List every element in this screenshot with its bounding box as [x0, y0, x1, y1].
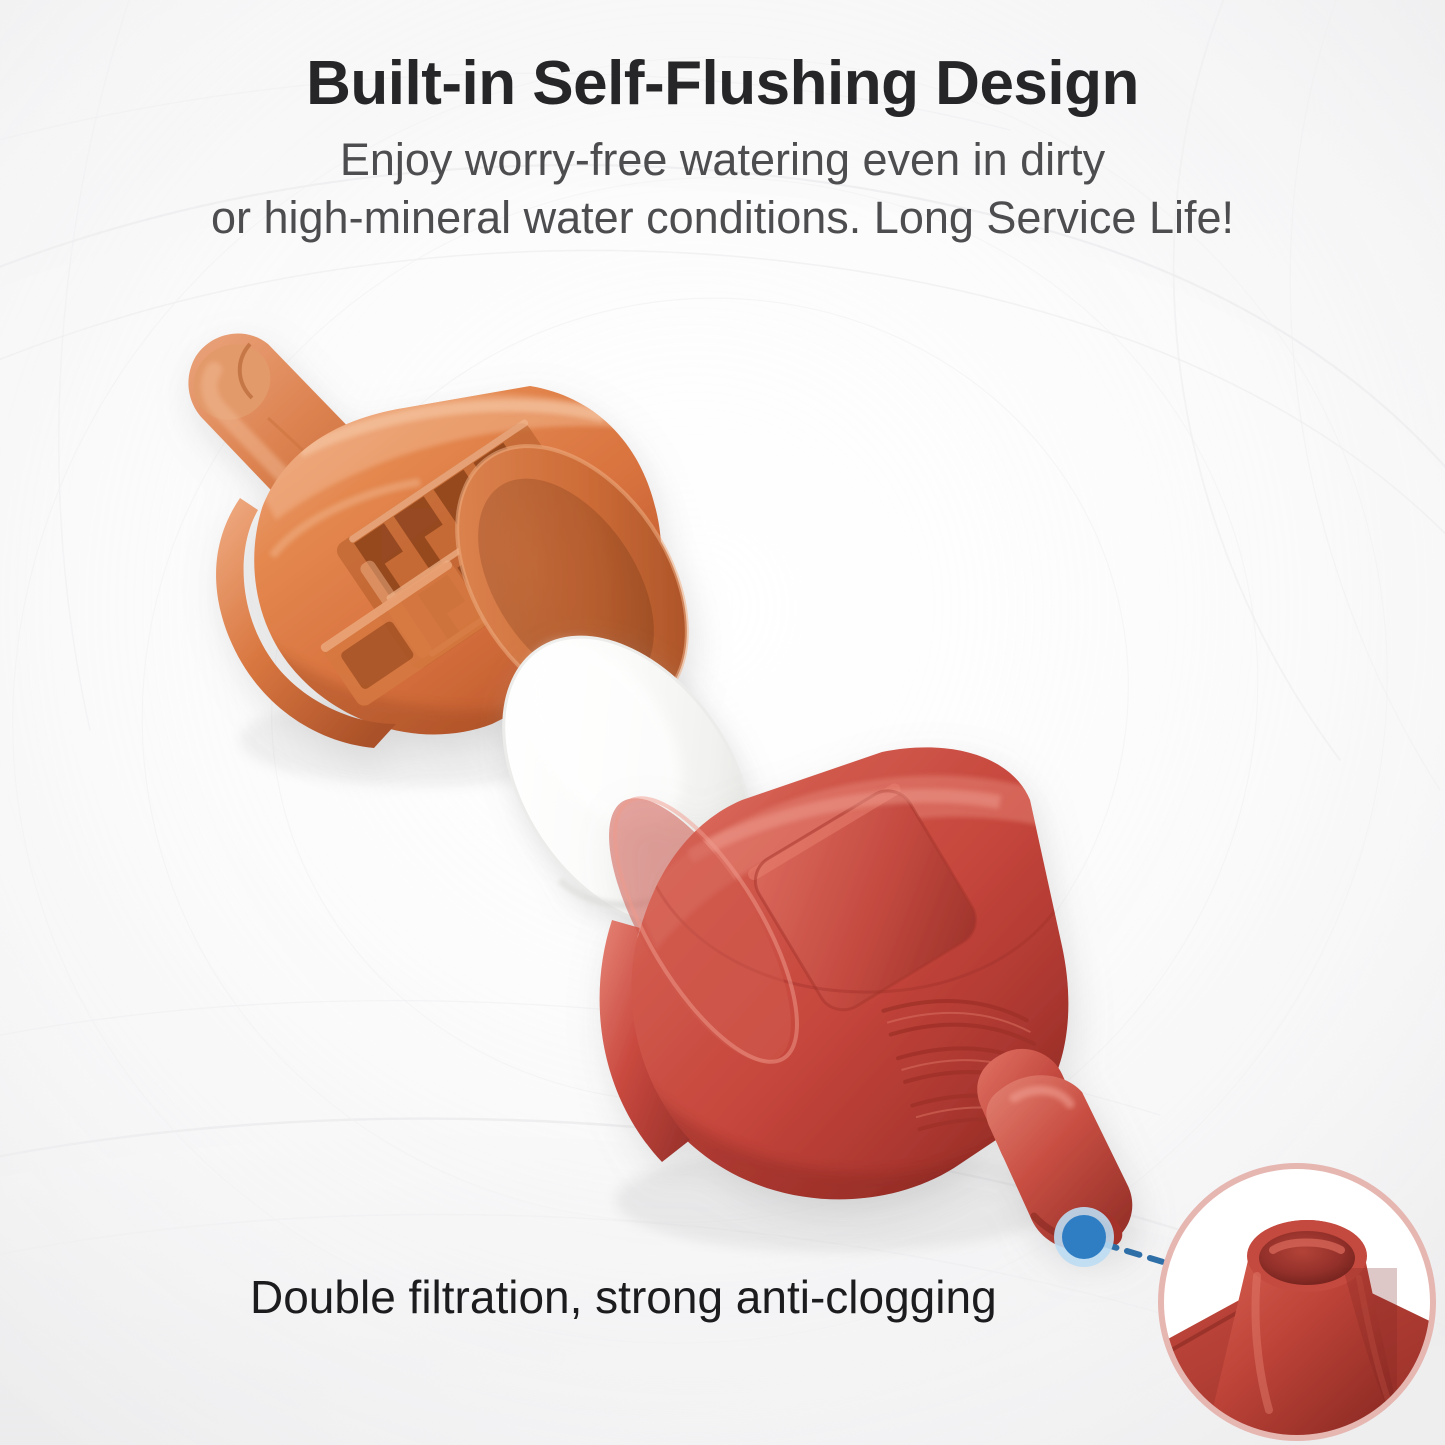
- magnifier-callout: [1153, 1158, 1441, 1445]
- callout-caption: Double filtration, strong anti-clogging: [250, 1272, 1150, 1323]
- infographic-canvas: Built-in Self-Flushing Design Enjoy worr…: [0, 0, 1445, 1445]
- nozzle-marker-dot: [1054, 1207, 1114, 1267]
